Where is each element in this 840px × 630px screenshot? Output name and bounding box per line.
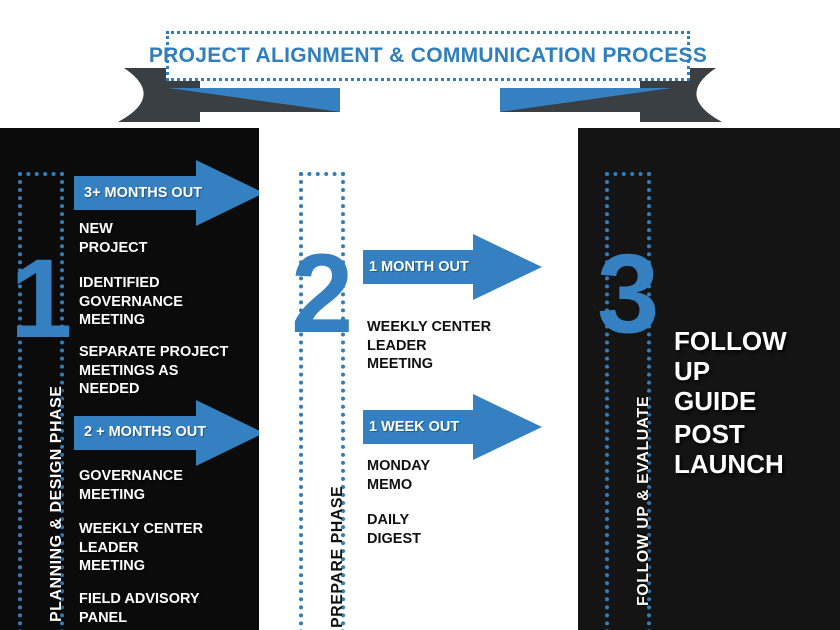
title-ribbon: PROJECT ALIGNMENT & COMMUNICATION PROCES… [0,0,840,130]
list-item: WEEKLY CENTER LEADER MEETING [367,318,491,374]
list-item: DAILY DIGEST [367,511,421,548]
step-number-2: 2 [291,238,353,350]
list-item: IDENTIFIED GOVERNANCE MEETING [79,274,183,330]
arrow-label-3-months-out: 3+ MONTHS OUT [84,185,202,201]
list-item: WEEKLY CENTER LEADER MEETING [79,520,203,576]
step-number-3: 3 [597,238,659,350]
step-number-1: 1 [10,243,72,355]
list-item: GOVERNANCE MEETING [79,467,183,504]
phase-label-2: PREPARE PHASE [329,486,347,628]
phase-label-3: FOLLOW UP & EVALUATE [635,396,653,606]
page-title: PROJECT ALIGNMENT & COMMUNICATION PROCES… [149,44,707,68]
arrow-label-2-months-out: 2 + MONTHS OUT [84,424,206,440]
column-prepare: 2 PREPARE PHASE 1 MONTH OUT WEEKLY CENTE… [259,128,578,630]
column-follow-up-evaluate: 3 FOLLOW UP & EVALUATE FOLLOW UP GUIDE P… [578,128,840,630]
list-item: SEPARATE PROJECT MEETINGS AS NEEDED [79,343,228,399]
list-item: POST LAUNCH [674,419,784,479]
list-item: NEW PROJECT [79,220,148,257]
list-item: MONDAY MEMO [367,457,430,494]
arrow-label-1-month-out: 1 MONTH OUT [369,259,469,275]
column-planning-design: 1 PLANNING & DESIGN PHASE 3+ MONTHS OUT … [0,128,259,630]
phase-label-1: PLANNING & DESIGN PHASE [48,386,66,622]
list-item: FIELD ADVISORY PANEL [79,590,200,627]
title-banner-box: PROJECT ALIGNMENT & COMMUNICATION PROCES… [166,31,690,81]
arrow-label-1-week-out: 1 WEEK OUT [369,419,459,435]
list-item: FOLLOW UP GUIDE [674,326,787,416]
